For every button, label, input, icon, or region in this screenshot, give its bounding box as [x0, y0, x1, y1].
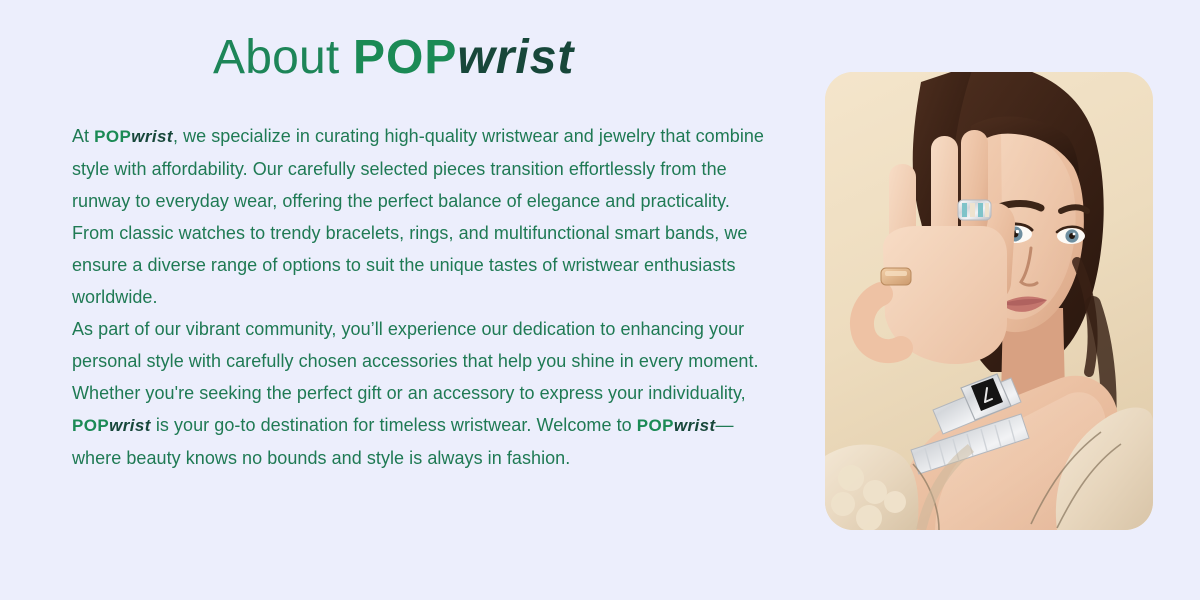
ring-gold — [881, 268, 911, 285]
about-hero-photo — [825, 72, 1153, 530]
brand-logotype-inline-3: POPwrist — [637, 416, 716, 435]
brand-pop-inline-2: POP — [72, 416, 109, 435]
about-body-copy: At POPwrist, we specialize in curating h… — [72, 120, 772, 474]
brand-logotype-inline-1: POPwrist — [94, 127, 173, 146]
brand-wrist-inline-2: wrist — [109, 416, 151, 435]
page-title: About POPwrist — [213, 30, 574, 85]
paragraph2-segment-1: As part of our vibrant community, you’ll… — [72, 319, 759, 403]
ring-jewel — [958, 200, 991, 220]
about-popwrist-section: About POPwrist At POPwrist, we specializ… — [0, 0, 1200, 600]
paragraph1-rest: , we specialize in curating high-quality… — [72, 126, 764, 307]
heading-about-word: About — [213, 31, 353, 84]
brand-logotype-inline-2: POPwrist — [72, 416, 151, 435]
brand-logotype-heading: POPwrist — [353, 31, 574, 84]
brand-pop-inline-3: POP — [637, 416, 674, 435]
brand-wrist-inline-1: wrist — [131, 127, 173, 146]
brand-pop-heading: POP — [353, 31, 457, 84]
brand-wrist-inline-3: wrist — [674, 416, 716, 435]
about-paragraph-1: At POPwrist, we specialize in curating h… — [72, 120, 772, 313]
brand-wrist-heading: wrist — [457, 31, 574, 84]
brand-pop-inline-1: POP — [94, 127, 131, 146]
about-paragraph-2: As part of our vibrant community, you’ll… — [72, 313, 772, 474]
model-photo-illustration — [825, 72, 1153, 530]
paragraph1-lead: At — [72, 126, 94, 146]
paragraph2-segment-2: is your go-to destination for timeless w… — [151, 415, 637, 435]
